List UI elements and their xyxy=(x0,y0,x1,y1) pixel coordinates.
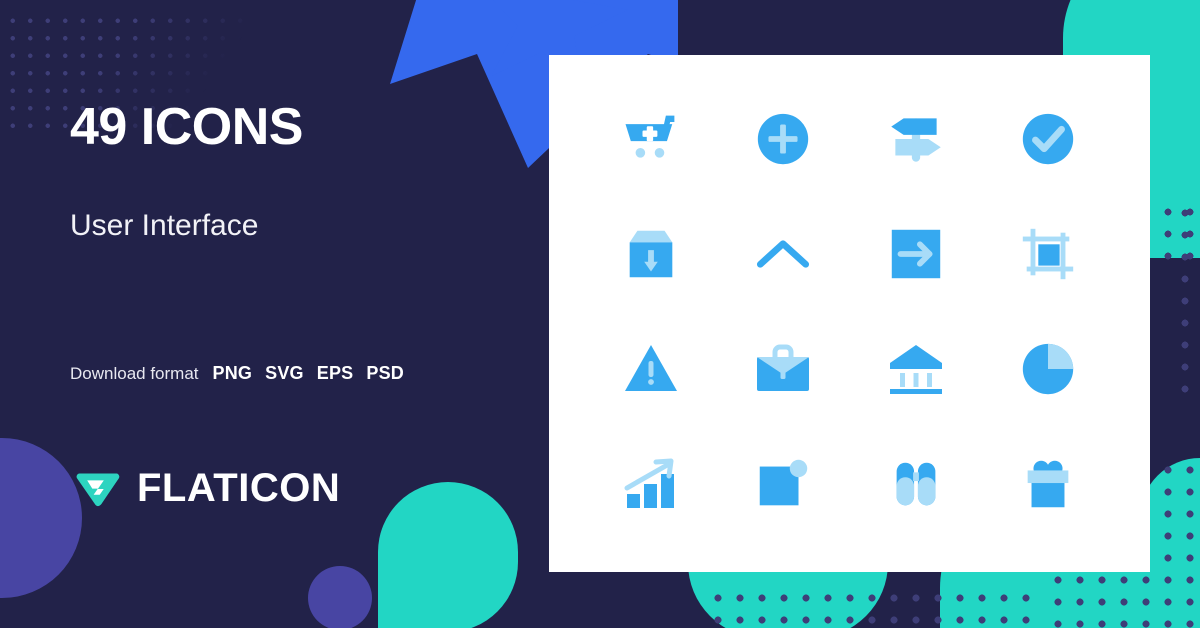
dot-pattern-bottom-center xyxy=(700,580,1030,628)
plus-circle-icon[interactable] xyxy=(717,81,849,196)
download-format-row: Download format PNG SVG EPS PSD xyxy=(70,363,404,384)
icon-preview-card xyxy=(549,55,1150,572)
download-format-list: PNG SVG EPS PSD xyxy=(213,363,404,384)
bank-icon[interactable] xyxy=(850,312,982,427)
square-notification-icon[interactable] xyxy=(717,427,849,542)
gift-box-icon[interactable] xyxy=(982,427,1114,542)
arrow-right-square-icon[interactable] xyxy=(850,196,982,311)
chevron-up-icon[interactable] xyxy=(717,196,849,311)
format-svg[interactable]: SVG xyxy=(265,363,304,384)
page-title: 49 ICONS xyxy=(70,101,303,153)
promo-banner: 49 ICONS User Interface Download format … xyxy=(0,0,1200,628)
brand-name: FLATICON xyxy=(137,468,340,508)
format-eps[interactable]: EPS xyxy=(317,363,354,384)
format-psd[interactable]: PSD xyxy=(366,363,404,384)
shopping-cart-add-icon[interactable] xyxy=(585,81,717,196)
binoculars-icon[interactable] xyxy=(850,427,982,542)
brand-logo[interactable]: FLATICON xyxy=(75,464,340,512)
check-circle-icon[interactable] xyxy=(982,81,1114,196)
growth-chart-icon[interactable] xyxy=(585,427,717,542)
crop-icon[interactable] xyxy=(982,196,1114,311)
download-format-label: Download format xyxy=(70,364,199,384)
page-subtitle: User Interface xyxy=(70,211,258,241)
warning-triangle-icon[interactable] xyxy=(585,312,717,427)
pie-chart-icon[interactable] xyxy=(982,312,1114,427)
dot-pattern-right xyxy=(1168,196,1200,406)
flaticon-logo-icon xyxy=(75,464,123,512)
format-png[interactable]: PNG xyxy=(213,363,253,384)
briefcase-icon[interactable] xyxy=(717,312,849,427)
download-box-icon[interactable] xyxy=(585,196,717,311)
info-column: 49 ICONS User Interface Download format … xyxy=(70,0,540,628)
icon-grid xyxy=(549,55,1150,572)
signpost-icon[interactable] xyxy=(850,81,982,196)
